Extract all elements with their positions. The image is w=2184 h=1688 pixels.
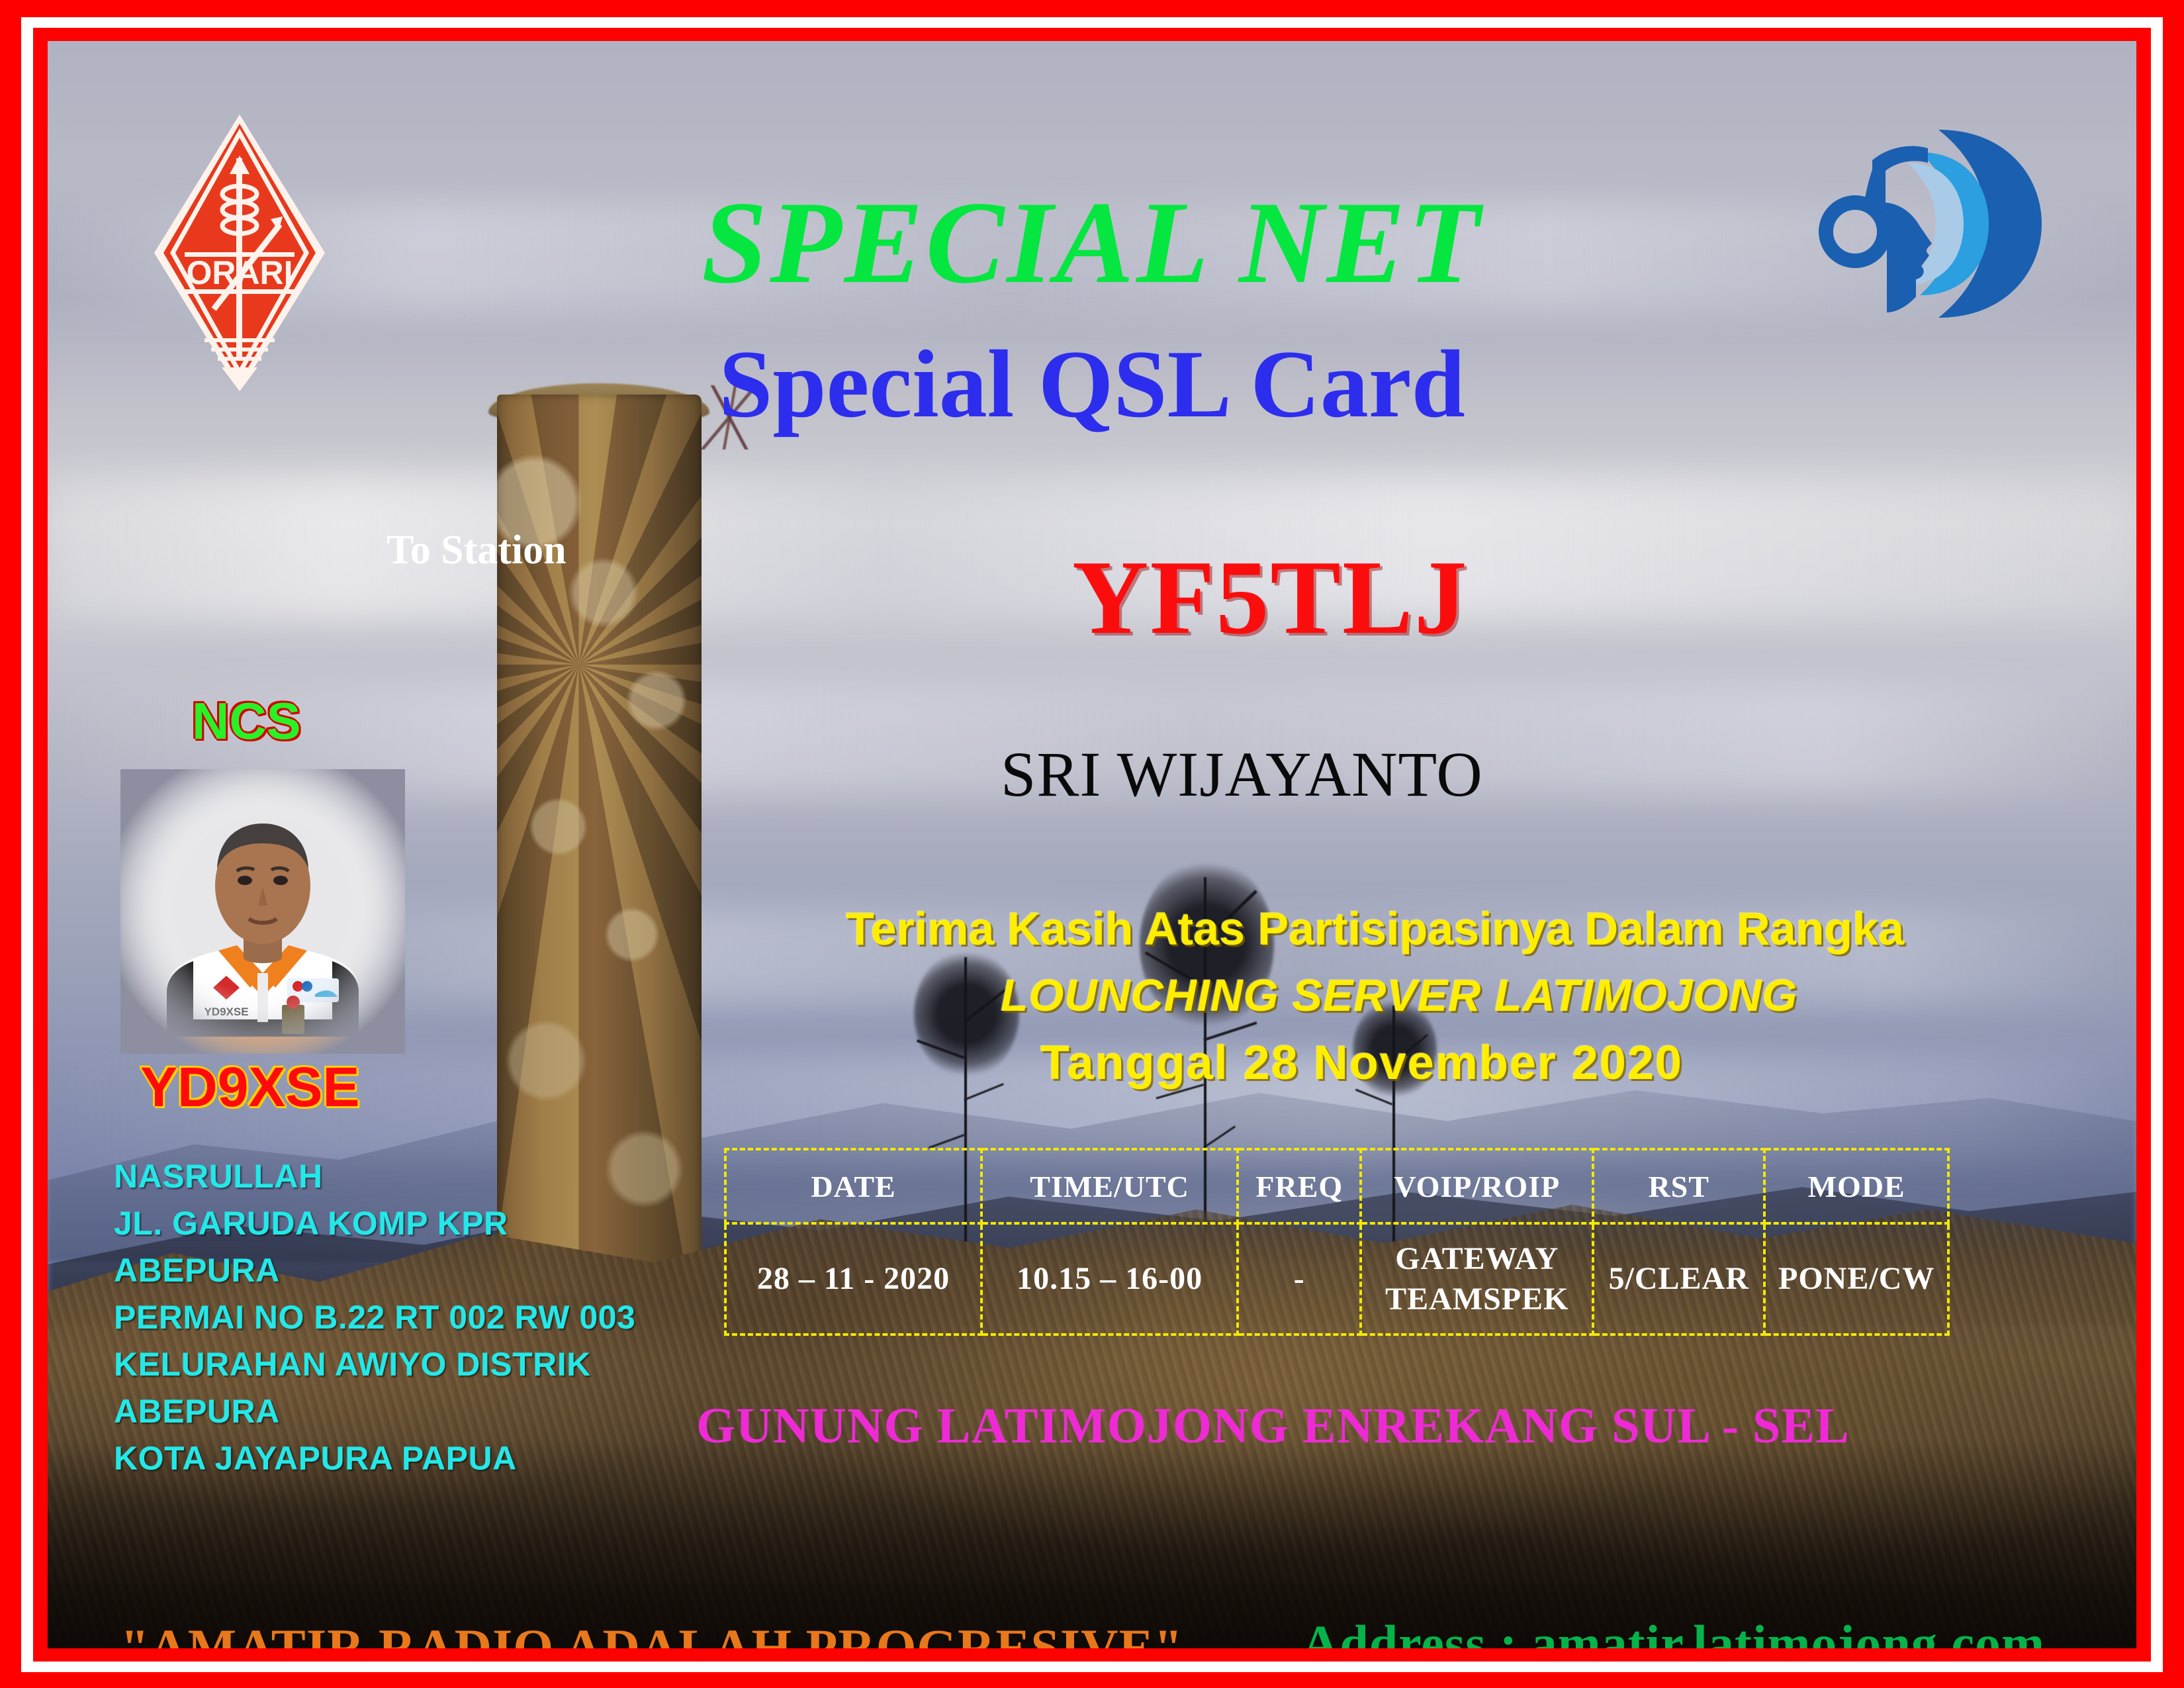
address-line: KELURAHAN AWIYO DISTRIK — [114, 1341, 635, 1388]
column-header-freq: FREQ — [1238, 1149, 1361, 1223]
cell-mode: PONE/CW — [1764, 1223, 1948, 1335]
station-callsign: YF5TLJ — [1072, 544, 1469, 650]
address-line: JL. GARUDA KOMP KPR — [114, 1200, 635, 1247]
page-subtitle: Special QSL Card — [719, 336, 1465, 432]
orari-logo-text: ORARI — [186, 254, 293, 291]
ncs-callsign: YD9XSE — [140, 1059, 360, 1115]
table-header-row: DATE TIME/UTC FREQ VOIP/ROIP RST MODE — [725, 1149, 1948, 1223]
cell-voip-roip: GATEWAY TEAMSPEK — [1361, 1223, 1593, 1335]
address-line: PERMAI NO B.22 RT 002 RW 003 — [114, 1294, 635, 1341]
address-line: ABEPURA — [114, 1388, 635, 1435]
qso-details-table: DATE TIME/UTC FREQ VOIP/ROIP RST MODE 28… — [724, 1148, 1950, 1336]
address-line: ABEPURA — [114, 1247, 635, 1294]
headset-profile-icon — [1809, 114, 2047, 332]
column-header-rst: RST — [1593, 1149, 1764, 1223]
column-header-time: TIME/UTC — [981, 1149, 1238, 1223]
cell-date: 28 – 11 - 2020 — [725, 1223, 981, 1335]
footer-website: Address : amatir.latimojong.com — [1302, 1618, 2045, 1648]
column-header-date: DATE — [725, 1149, 981, 1223]
ncs-operator-photo: YD9XSE — [120, 769, 405, 1054]
column-header-mode: MODE — [1764, 1149, 1948, 1223]
event-date-line: Tanggal 28 November 2020 — [1040, 1039, 1683, 1087]
card-photo-area: ORARI — [48, 41, 2136, 1648]
footer-motto: "AMATIR RADIO ADALAH PROGRESIVE" — [120, 1622, 1183, 1648]
operator-name: SRI WIJAYANTO — [1001, 743, 1483, 806]
cell-freq: - — [1238, 1223, 1361, 1335]
orari-logo: ORARI — [150, 111, 329, 395]
location-line: GUNUNG LATIMOJONG ENREKANG SUL - SEL — [696, 1401, 1850, 1451]
cell-voip-roip-line1: GATEWAY — [1362, 1239, 1592, 1279]
cell-voip-roip-line2: TEAMSPEK — [1362, 1279, 1592, 1319]
event-line: LOUNCHING SERVER LATIMOJONG — [1001, 973, 1797, 1018]
qsl-card: ORARI — [0, 0, 2184, 1688]
cell-time: 10.15 – 16-00 — [981, 1223, 1238, 1335]
address-line: KOTA JAYAPURA PAPUA — [114, 1435, 635, 1482]
to-station-label: To Station — [387, 530, 567, 571]
address-block: NASRULLAH JL. GARUDA KOMP KPR ABEPURA PE… — [114, 1153, 635, 1482]
ncs-label: NCS — [192, 695, 301, 747]
table-row: 28 – 11 - 2020 10.15 – 16-00 - GATEWAY T… — [725, 1223, 1948, 1335]
thanks-line: Terima Kasih Atas Partisipasinya Dalam R… — [846, 906, 1904, 952]
page-title: SPECIAL NET — [702, 183, 1482, 301]
address-line: NASRULLAH — [114, 1153, 635, 1200]
column-header-voip-roip: VOIP/ROIP — [1361, 1149, 1593, 1223]
cell-rst: 5/CLEAR — [1593, 1223, 1764, 1335]
